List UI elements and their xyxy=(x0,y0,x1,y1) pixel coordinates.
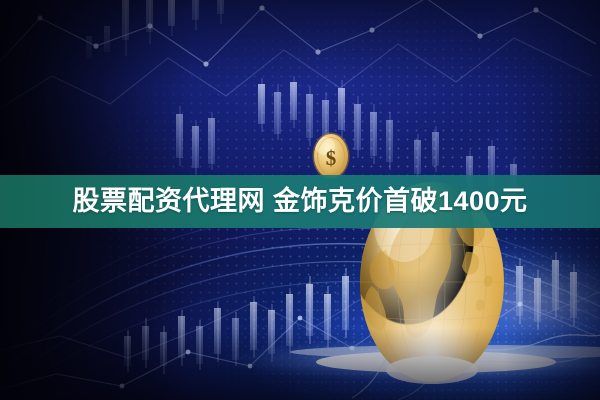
headline-text: 股票配资代理网 金饰克价首破1400元 xyxy=(72,188,527,215)
banner-image: $ 股票配资代理网 金饰克价首破1400元 xyxy=(0,0,600,400)
headline-band: 股票配资代理网 金饰克价首破1400元 xyxy=(0,175,600,228)
